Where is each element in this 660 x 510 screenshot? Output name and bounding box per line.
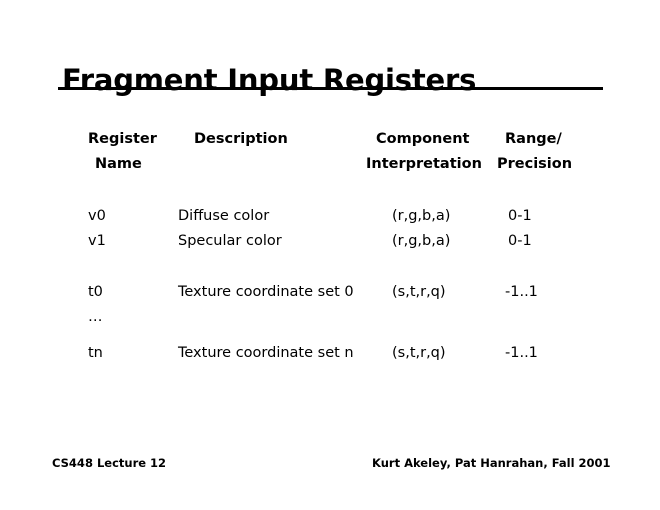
cell-component: (s,t,r,q) bbox=[392, 343, 446, 364]
table-row: t0 Texture coordinate set 0 (s,t,r,q) -1… bbox=[0, 282, 660, 307]
header-range-line1: Range/ bbox=[505, 129, 562, 150]
table-row: tn Texture coordinate set n (s,t,r,q) -1… bbox=[0, 343, 660, 368]
cell-range: 0-1 bbox=[508, 206, 532, 227]
cell-register-name: t0 bbox=[88, 282, 103, 303]
cell-ellipsis: … bbox=[88, 307, 103, 328]
cell-description: Texture coordinate set n bbox=[178, 343, 354, 364]
table-header-row-1: Register Description Component Range/ bbox=[0, 129, 660, 154]
cell-component: (r,g,b,a) bbox=[392, 231, 450, 252]
title-divider bbox=[58, 87, 603, 90]
header-register-name-line1: Register bbox=[88, 129, 157, 150]
cell-range: -1..1 bbox=[505, 343, 538, 364]
table-row: v0 Diffuse color (r,g,b,a) 0-1 bbox=[0, 206, 660, 231]
header-register-name-line2: Name bbox=[95, 154, 142, 175]
header-description: Description bbox=[194, 129, 288, 150]
cell-description: Specular color bbox=[178, 231, 282, 252]
cell-component: (r,g,b,a) bbox=[392, 206, 450, 227]
cell-range: -1..1 bbox=[505, 282, 538, 303]
cell-register-name: tn bbox=[88, 343, 103, 364]
table-header-row-2: Name Interpretation Precision bbox=[0, 154, 660, 179]
table-row: v1 Specular color (r,g,b,a) 0-1 bbox=[0, 231, 660, 256]
cell-description: Diffuse color bbox=[178, 206, 269, 227]
cell-description: Texture coordinate set 0 bbox=[178, 282, 354, 303]
cell-register-name: v0 bbox=[88, 206, 106, 227]
header-component-line2: Interpretation bbox=[366, 154, 482, 175]
footer-authors-label: Kurt Akeley, Pat Hanrahan, Fall 2001 bbox=[372, 456, 611, 470]
register-table: Register Description Component Range/ Na… bbox=[0, 129, 660, 368]
header-component-line1: Component bbox=[376, 129, 469, 150]
cell-register-name: v1 bbox=[88, 231, 106, 252]
table-group-spacer bbox=[0, 256, 660, 282]
cell-component: (s,t,r,q) bbox=[392, 282, 446, 303]
slide-canvas: Fragment Input Registers Register Descri… bbox=[0, 0, 660, 510]
table-ellipsis-row: … bbox=[0, 307, 660, 343]
page-title: Fragment Input Registers bbox=[62, 63, 476, 97]
header-range-line2: Precision bbox=[497, 154, 572, 175]
cell-range: 0-1 bbox=[508, 231, 532, 252]
footer-lecture-label: CS448 Lecture 12 bbox=[52, 456, 166, 470]
table-header-spacer bbox=[0, 179, 660, 206]
